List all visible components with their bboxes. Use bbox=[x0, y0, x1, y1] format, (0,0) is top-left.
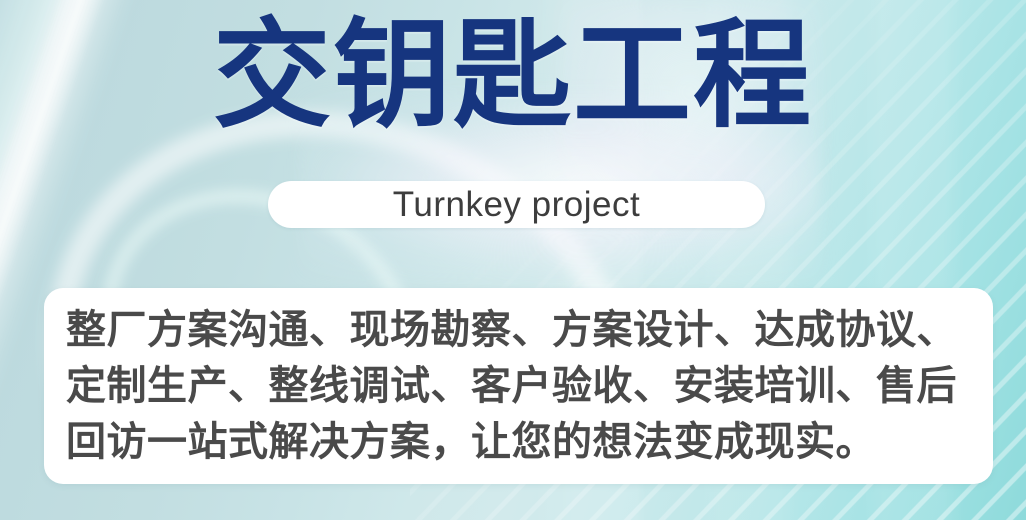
subtitle-label: Turnkey project bbox=[268, 181, 765, 228]
banner-content: 交钥匙工程 Turnkey project 整厂方案沟通、现场勘察、方案设计、达… bbox=[0, 0, 1026, 520]
description-text: 整厂方案沟通、现场勘察、方案设计、达成协议、 定制生产、整线调试、客户验收、安装… bbox=[66, 302, 971, 470]
description-line: 回访一站式解决方案，让您的想法变成现实。 bbox=[66, 414, 971, 470]
subtitle-pill: Turnkey project bbox=[268, 181, 765, 228]
turnkey-project-banner: 交钥匙工程 Turnkey project 整厂方案沟通、现场勘察、方案设计、达… bbox=[0, 0, 1026, 520]
description-line: 定制生产、整线调试、客户验收、安装培训、售后 bbox=[66, 358, 971, 414]
page-title: 交钥匙工程 bbox=[0, 12, 1026, 140]
description-line: 整厂方案沟通、现场勘察、方案设计、达成协议、 bbox=[66, 302, 971, 358]
description-card: 整厂方案沟通、现场勘察、方案设计、达成协议、 定制生产、整线调试、客户验收、安装… bbox=[44, 288, 993, 484]
